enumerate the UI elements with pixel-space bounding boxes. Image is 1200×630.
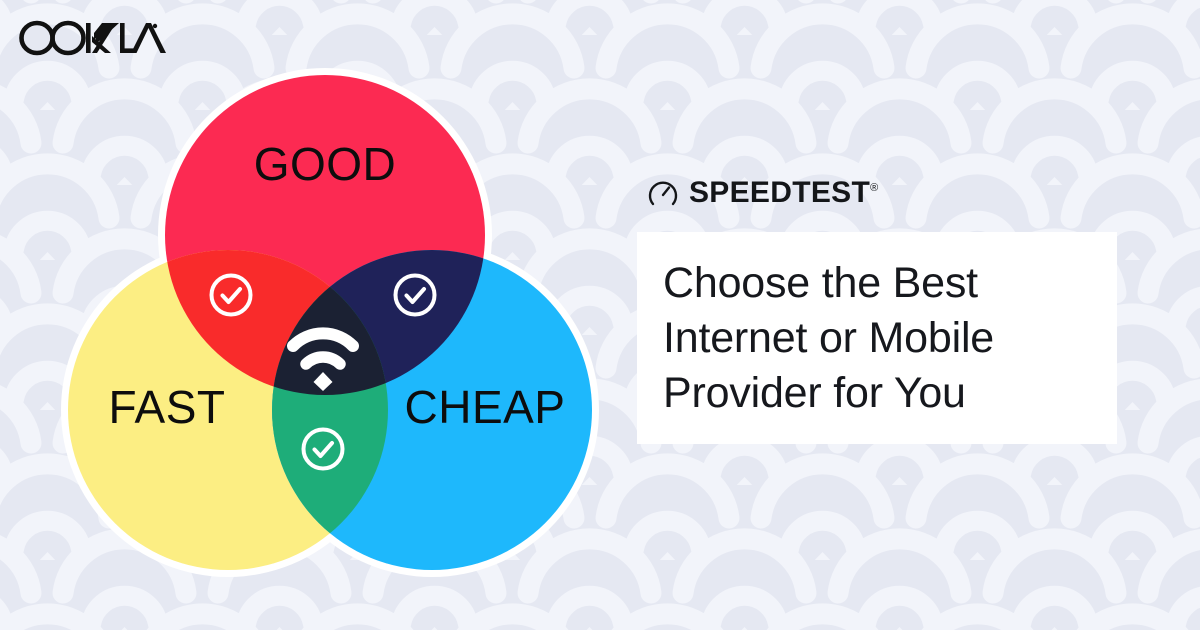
speedtest-wordmark-text: SPEEDTEST: [689, 176, 870, 209]
headline-line-1: Choose the Best: [663, 256, 1091, 311]
promo-graphic: GOOD FAST CHEAP SPEEDT: [0, 0, 1200, 630]
venn-label-cheap: CHEAP: [405, 381, 566, 433]
speedtest-logo: SPEEDTEST®: [648, 176, 878, 210]
speedtest-wordmark: SPEEDTEST®: [689, 178, 878, 208]
headline-card: Choose the Best Internet or Mobile Provi…: [637, 232, 1117, 444]
venn-label-fast: FAST: [108, 381, 225, 433]
ookla-logo: [16, 16, 166, 60]
headline-line-2: Internet or Mobile: [663, 311, 1091, 366]
page-title: Choose the Best Internet or Mobile Provi…: [663, 256, 1091, 421]
registered-mark: ®: [870, 182, 878, 194]
speed-gauge-icon: [648, 178, 678, 208]
venn-diagram: GOOD FAST CHEAP: [50, 60, 610, 580]
headline-line-3: Provider for You: [663, 366, 1091, 421]
venn-label-good: GOOD: [254, 138, 397, 190]
